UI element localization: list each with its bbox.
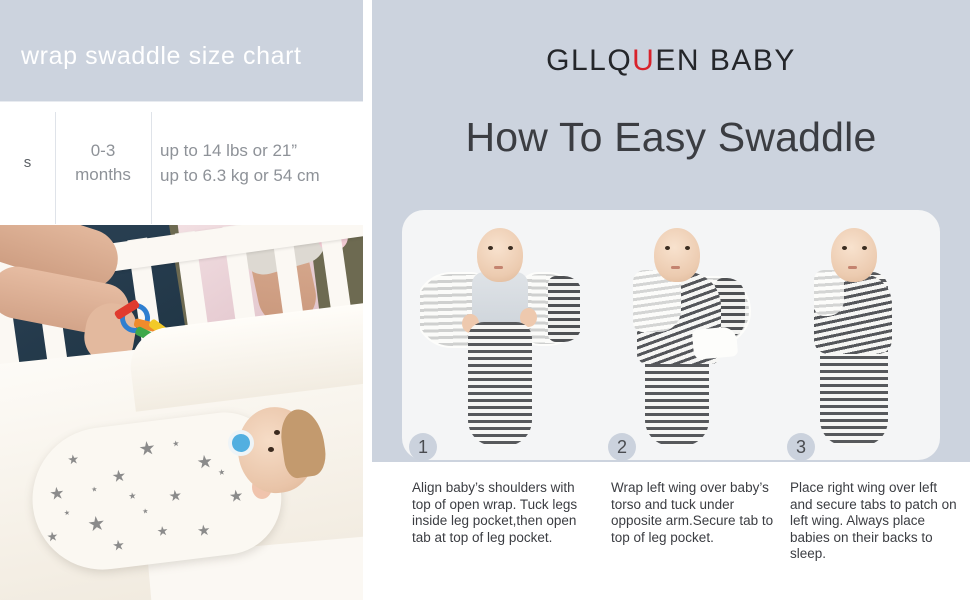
table-column-divider	[55, 112, 56, 224]
baby-head	[831, 228, 877, 282]
baby-mouth	[494, 266, 503, 269]
table-row: s 0-3 months up to 14 lbs or 21” up to 6…	[0, 101, 363, 224]
step-2-number-badge: 2	[608, 433, 636, 461]
size-chart-table: s 0-3 months up to 14 lbs or 21” up to 6…	[0, 101, 363, 224]
size-chart-title: wrap swaddle size chart	[21, 42, 302, 71]
baby-eye	[685, 246, 690, 250]
crib-baby-photo: ★ ★ ★ ★ ★ ★ ★ ★ ★ ★ ★ ★ ★ ★ ★ ★ ★ ★ ★ ★	[0, 225, 363, 600]
brand-logo-part-before: GLLQ	[546, 44, 632, 77]
infographic-page: wrap swaddle size chart s 0-3 months up …	[0, 0, 970, 600]
baby-mouth	[848, 266, 857, 269]
cell-age-line2: months	[75, 163, 131, 187]
swaddle-leg-pocket	[468, 322, 532, 446]
step-1-caption: Align baby’s shoulders with top of open …	[412, 480, 582, 546]
cell-age-line1: 0-3	[75, 139, 131, 163]
brand-logo-accent-letter: U	[632, 44, 655, 77]
baby-eye	[665, 246, 670, 250]
brand-logo-part-after: EN BABY	[655, 44, 796, 77]
brand-logo-text: GLLQUEN BABY	[546, 44, 796, 78]
step-3-number-badge: 3	[787, 433, 815, 461]
brand-logo: GLLQUEN BABY	[372, 44, 970, 78]
cell-size-value: s	[0, 101, 55, 224]
cell-spec-line2: up to 6.3 kg or 54 cm	[160, 163, 320, 188]
left-size-chart-panel: wrap swaddle size chart s 0-3 months up …	[0, 0, 363, 600]
swaddle-steps-image-card	[402, 210, 940, 460]
baby-mouth	[671, 266, 680, 269]
cell-spec-line1: up to 14 lbs or 21”	[160, 138, 320, 163]
baby-eye	[862, 246, 867, 250]
step-3-image	[774, 210, 934, 460]
baby-eye	[508, 246, 513, 250]
step-1-image	[420, 210, 580, 460]
baby-eye	[268, 447, 274, 452]
table-column-divider	[151, 112, 152, 224]
step-2-image	[597, 210, 757, 460]
step-1-number-badge: 1	[409, 433, 437, 461]
cell-age-value: 0-3 months	[55, 101, 151, 224]
baby-head	[654, 228, 700, 282]
baby-eye	[274, 430, 280, 435]
baby-eye	[842, 246, 847, 250]
swaddle-fold	[692, 326, 738, 360]
cell-spec-value: up to 14 lbs or 21” up to 6.3 kg or 54 c…	[151, 101, 363, 224]
swaddle-tab	[548, 276, 580, 342]
step-2-caption: Wrap left wing over baby’s torso and tuc…	[611, 480, 781, 546]
baby-eye	[488, 246, 493, 250]
size-chart-header-band: wrap swaddle size chart	[0, 0, 363, 101]
step-3-caption: Place right wing over left and secure ta…	[790, 480, 960, 563]
page-title: How To Easy Swaddle	[372, 114, 970, 161]
baby-head	[477, 228, 523, 282]
